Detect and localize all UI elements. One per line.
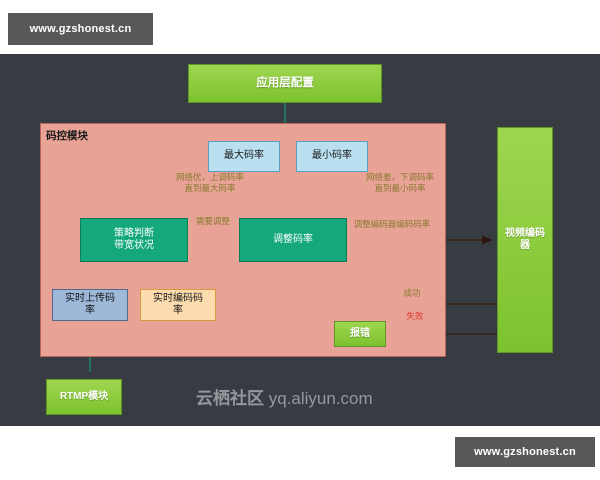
node-label: RTMP模块 xyxy=(57,391,111,403)
node-rtmp-module[interactable]: RTMP模块 xyxy=(46,379,122,415)
node-app-layer-config[interactable]: 应用层配置 xyxy=(188,64,382,103)
node-label: 报错 xyxy=(347,328,373,340)
node-label: 策略判断带宽状况 xyxy=(111,228,157,252)
site-watermark-cn: 云栖社区 xyxy=(196,389,269,408)
node-realtime-encode-bitrate[interactable]: 实时编码码率 xyxy=(140,289,216,321)
diagram-stage: www.gzshonest.cn xyxy=(0,0,600,480)
edge-label-network-good: 网络优，上调码率直到最大码率 xyxy=(150,172,270,194)
node-label: 实时编码码率 xyxy=(150,293,206,317)
node-adjust-bitrate[interactable]: 调整码率 xyxy=(239,218,347,262)
node-label: 视频编码器 xyxy=(502,228,548,252)
edge-label-adjust-encoder-bitrate: 调整编码器编码码率 xyxy=(340,219,444,230)
edge-label-success: 成功 xyxy=(392,288,432,299)
node-label: 最小码率 xyxy=(309,150,355,162)
node-label: 最大码率 xyxy=(221,150,267,162)
watermark-bottom: www.gzshonest.cn xyxy=(455,437,595,467)
module-title: 码控模块 xyxy=(46,128,88,143)
node-video-encoder[interactable]: 视频编码器 xyxy=(497,127,553,353)
edge-label-fail: 失败 xyxy=(398,311,432,322)
node-label: 调整码率 xyxy=(270,234,316,246)
node-realtime-upload-bitrate[interactable]: 实时上传码率 xyxy=(52,289,128,321)
node-label: 实时上传码率 xyxy=(62,293,118,317)
node-max-bitrate[interactable]: 最大码率 xyxy=(208,141,280,172)
node-strategy-judge-bandwidth[interactable]: 策略判断带宽状况 xyxy=(80,218,188,262)
node-report-error[interactable]: 报错 xyxy=(334,321,386,347)
edge-label-network-bad: 网络差，下调码率直到最小码率 xyxy=(340,172,460,194)
edge-label-need-adjust: 需要调整 xyxy=(185,216,241,227)
node-min-bitrate[interactable]: 最小码率 xyxy=(296,141,368,172)
site-watermark: 云栖社区 yq.aliyun.com xyxy=(196,384,373,409)
node-label: 应用层配置 xyxy=(253,76,317,90)
site-watermark-url: yq.aliyun.com xyxy=(269,389,373,408)
